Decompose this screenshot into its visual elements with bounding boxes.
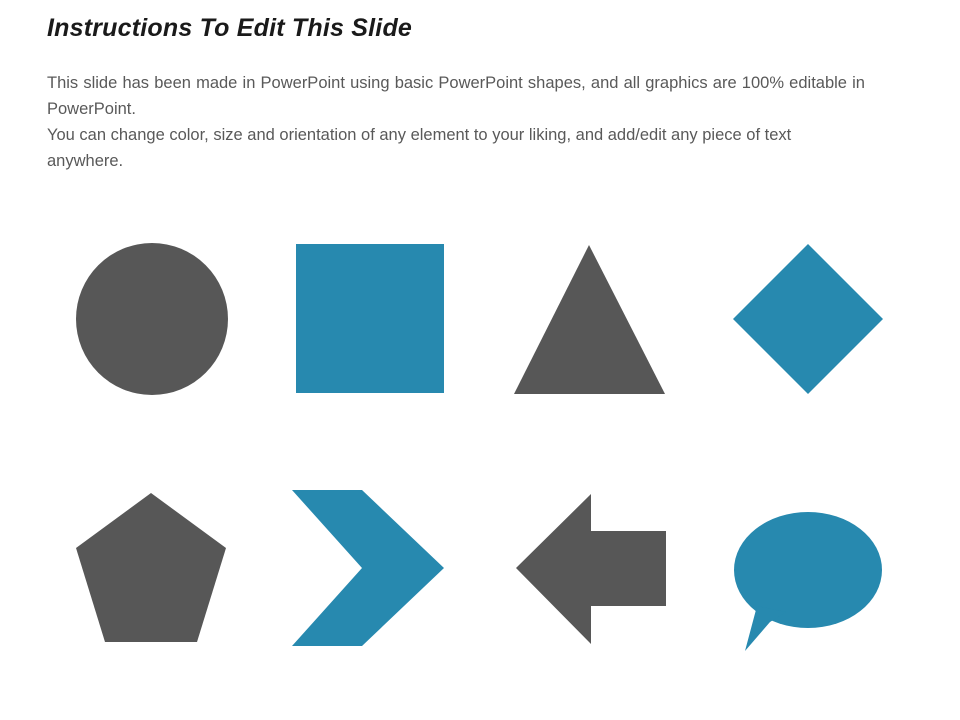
circle-shape [76, 243, 228, 395]
speech-bubble-shape [734, 512, 882, 651]
instructions-text-block: This slide has been made in PowerPoint u… [47, 70, 865, 174]
triangle-shape [514, 245, 665, 394]
pentagon-shape [76, 493, 226, 642]
instructions-paragraph-1: This slide has been made in PowerPoint u… [47, 70, 865, 122]
left-arrow-shape [516, 494, 666, 644]
slide-canvas: Instructions To Edit This Slide This sli… [0, 0, 960, 720]
diamond-shape [733, 244, 883, 394]
chevron-right-arrow-shape [292, 490, 444, 646]
instructions-paragraph-2: You can change color, size and orientati… [47, 122, 865, 174]
square-shape [296, 244, 444, 393]
page-title: Instructions To Edit This Slide [47, 13, 412, 43]
